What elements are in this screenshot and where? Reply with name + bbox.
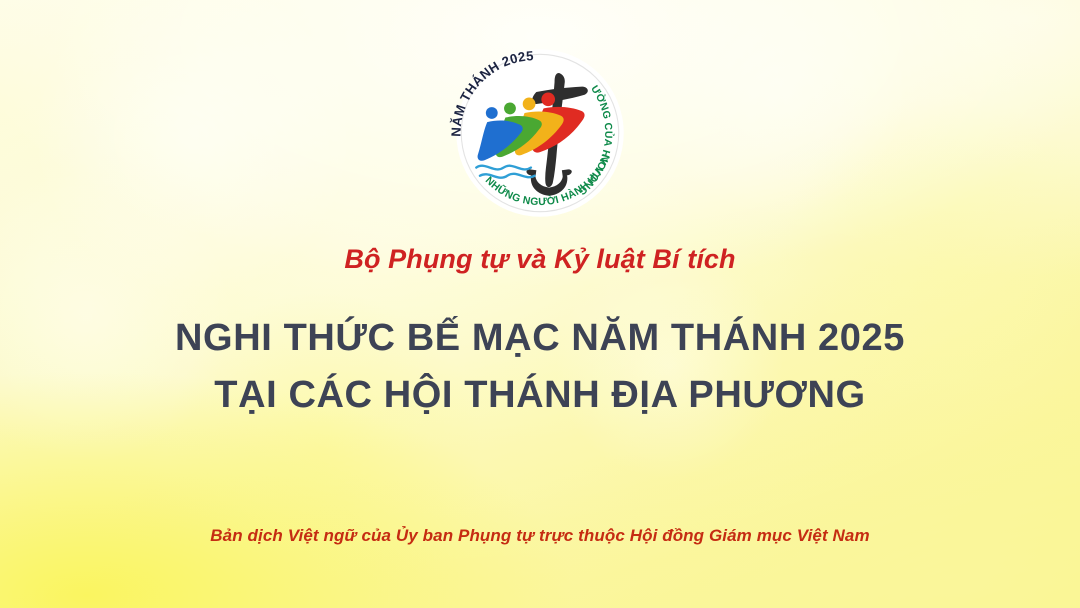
- title-line-1: NGHI THỨC BẾ MẠC NĂM THÁNH 2025: [0, 310, 1080, 367]
- dicastery-line: Bộ Phụng tự và Kỷ luật Bí tích: [0, 244, 1080, 275]
- page-title: NGHI THỨC BẾ MẠC NĂM THÁNH 2025 TẠI CÁC …: [0, 310, 1080, 424]
- jubilee-logo: NĂM THÁNH 2025 ƯỜNG CỦA HY VỌNG NHỮNG NG…: [449, 42, 631, 224]
- translation-credit: Bản dịch Việt ngữ của Ủy ban Phụng tự tr…: [0, 526, 1080, 546]
- title-line-2: TẠI CÁC HỘI THÁNH ĐỊA PHƯƠNG: [0, 367, 1080, 424]
- slide-canvas: NĂM THÁNH 2025 ƯỜNG CỦA HY VỌNG NHỮNG NG…: [0, 0, 1080, 608]
